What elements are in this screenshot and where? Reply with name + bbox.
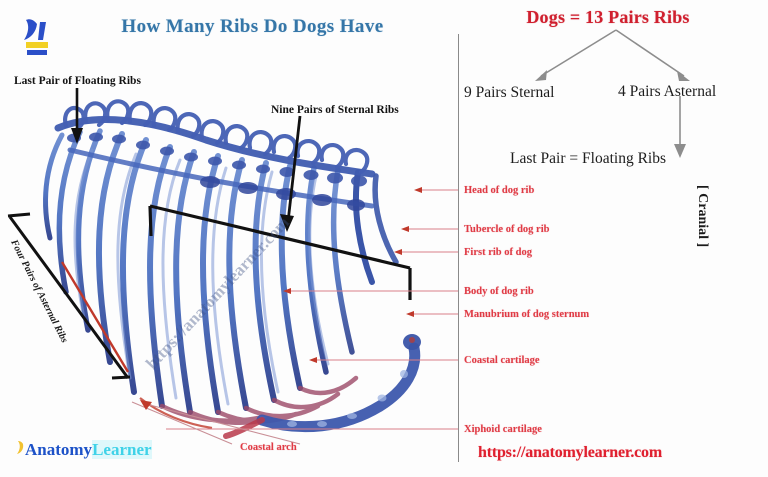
label-four-pairs-asternal-ribs: Four Pairs of Asternal Ribs [8, 238, 70, 345]
leader-label-6: Xiphoid cartilage [464, 424, 542, 435]
brand-logo-top[interactable] [16, 14, 58, 60]
manubrium-marker [403, 334, 421, 350]
footer-url[interactable]: https://anatomylearner.com [478, 444, 662, 462]
leader-label-4: Manubrium of dog sternum [464, 309, 589, 320]
leader-lines [0, 0, 768, 477]
brand-logo-bottom[interactable]: AnatomyLearner [14, 440, 152, 460]
right-panel-heading: Dogs = 13 Pairs Ribs [508, 7, 708, 28]
leader-label-0: Head of dog rib [464, 185, 534, 196]
tree-node-sternal: 9 Pairs Sternal [464, 84, 554, 102]
logo-text-anatomy: Anatomy [25, 440, 92, 459]
tree-connector-arrows [0, 0, 768, 477]
page-title: How Many Ribs Do Dogs Have [105, 16, 400, 38]
infographic-canvas: How Many Ribs Do Dogs Have Dogs = 13 Pai… [0, 0, 768, 477]
tree-node-last-pair: Last Pair = Floating Ribs [510, 150, 666, 168]
leader-label-1: Tubercle of dog rib [464, 224, 549, 235]
orientation-label-cranial: [ Cranial ] [694, 185, 710, 295]
dog-ribcage-illustration [0, 0, 768, 477]
label-nine-pairs-sternal-ribs: Nine Pairs of Sternal Ribs [271, 104, 399, 116]
panel-divider [458, 34, 459, 462]
leader-label-3: Body of dog rib [464, 286, 534, 297]
label-coastal-arch: Coastal arch [240, 442, 297, 453]
tree-node-asternal: 4 Pairs Asternal [618, 83, 716, 101]
brand-flame-icon [14, 440, 24, 458]
bracket-annotations [0, 0, 768, 477]
leader-label-2: First rib of dog [464, 247, 532, 258]
watermark-text: https://anatomylearner.com [142, 213, 294, 374]
leader-label-5: Coastal cartilage [464, 355, 540, 366]
logo-text-learner: Learner [92, 440, 151, 459]
label-last-pair-floating-ribs: Last Pair of Floating Ribs [14, 75, 141, 87]
